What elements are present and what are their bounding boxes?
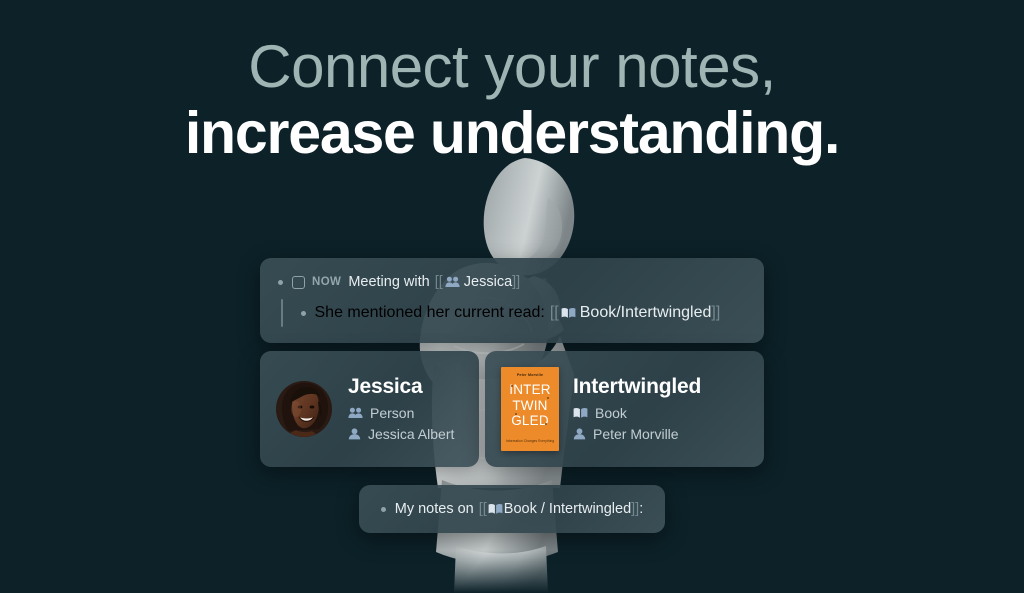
bottom-card-wrapper: My notes on [[ Book / Intertwingled ]] : [260, 485, 764, 533]
entity-meta-label: Book [595, 403, 627, 424]
checkbox-icon[interactable] [292, 276, 305, 289]
book-cover: Peter Morville INTER TWIN GLED Informati… [501, 367, 559, 451]
book-icon [573, 407, 588, 419]
entity-meta-label: Peter Morville [593, 424, 679, 445]
entity-card-row: Jessica Person [260, 351, 764, 467]
people-icon [348, 407, 363, 419]
link-open-bracket: [[ [435, 272, 443, 292]
entity-meta-label: Jessica Albert [368, 424, 454, 445]
avatar [276, 381, 332, 437]
book-cover-author: Peter Morville [501, 373, 559, 377]
note-row-meeting[interactable]: NOW Meeting with [[ Jessica ]] [278, 272, 746, 292]
link-close-bracket: ]] [631, 499, 639, 519]
person-icon [573, 428, 586, 440]
entity-meta-author: Peter Morville [573, 424, 701, 445]
cover-dot [511, 385, 513, 387]
book-cover-title: INTER TWIN GLED [501, 382, 559, 429]
indent-guide-line [281, 299, 283, 327]
cover-dot [515, 413, 517, 415]
headline-line-1: Connect your notes, [0, 34, 1024, 100]
entity-info: Intertwingled Book [573, 374, 701, 445]
note-text-after: : [639, 499, 643, 519]
entity-title: Intertwingled [573, 374, 701, 399]
book-cover-title-line: TWIN [512, 398, 547, 413]
link-book-intertwingled[interactable]: Book / Intertwingled [504, 499, 631, 519]
entity-title: Jessica [348, 374, 454, 399]
now-tag: NOW [312, 272, 341, 292]
people-icon [445, 276, 460, 288]
entity-info: Jessica Person [348, 374, 454, 445]
link-close-bracket: ]] [711, 304, 720, 322]
my-notes-card[interactable]: My notes on [[ Book / Intertwingled ]] : [359, 485, 666, 533]
cover-dot [547, 397, 549, 399]
bullet-icon [381, 507, 386, 512]
entity-meta-type: Book [573, 403, 701, 424]
page-title: Connect your notes, increase understandi… [0, 34, 1024, 166]
note-row-read[interactable]: She mentioned her current read: [[ Book/… [301, 299, 747, 327]
book-cover-title-line: INTER [509, 382, 551, 397]
entity-meta-label: Person [370, 403, 414, 424]
bullet-icon [278, 280, 283, 285]
note-card-stack: NOW Meeting with [[ Jessica ]] She menti… [260, 258, 764, 533]
link-jessica[interactable]: Jessica [464, 272, 512, 292]
entity-card-jessica[interactable]: Jessica Person [260, 351, 479, 467]
book-icon [488, 503, 503, 515]
cover-dot [545, 423, 547, 425]
link-open-bracket: [[ [550, 304, 559, 322]
book-icon [561, 307, 576, 319]
book-cover-title-line: GLED [511, 413, 549, 428]
entity-card-intertwingled[interactable]: Peter Morville INTER TWIN GLED Informati… [485, 351, 764, 467]
link-close-bracket: ]] [512, 272, 520, 292]
note-text: My notes on [395, 499, 474, 519]
note-text: She mentioned her current read: [315, 304, 545, 322]
note-indent-group: She mentioned her current read: [[ Book/… [278, 299, 746, 327]
link-book-intertwingled[interactable]: Book/Intertwingled [580, 304, 712, 322]
entity-meta-name: Jessica Albert [348, 424, 454, 445]
headline-line-2: increase understanding. [0, 100, 1024, 166]
entity-meta-type: Person [348, 403, 454, 424]
link-open-bracket: [[ [479, 499, 487, 519]
person-icon [348, 428, 361, 440]
bullet-icon [301, 311, 306, 316]
note-text: Meeting with [348, 272, 429, 292]
book-cover-subtitle: Information Changes Everything [501, 439, 559, 443]
note-card[interactable]: NOW Meeting with [[ Jessica ]] She menti… [260, 258, 764, 343]
